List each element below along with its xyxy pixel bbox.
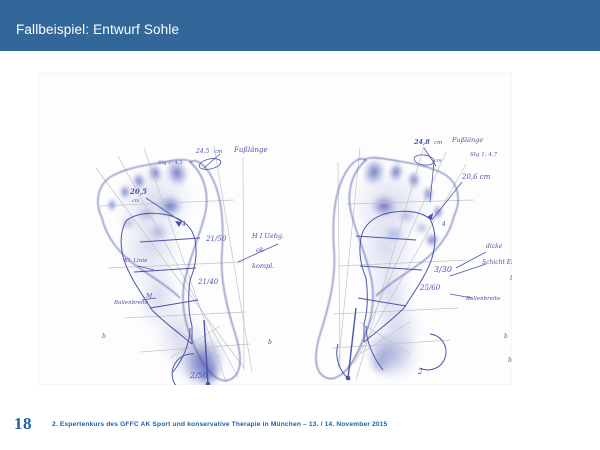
annotation-l-21-40: 21/40 (197, 278, 219, 286)
annotation-l-stg: Stg 1: 4,5 (158, 160, 183, 166)
annotation-r-stg: Stg 1: 4,7 (470, 152, 498, 158)
annotation-r-heel-2: 2 (417, 368, 423, 376)
annotation-l-b2: b (268, 339, 272, 346)
annotation-l-kl-linie: Kl. Linie (123, 258, 148, 264)
annotation-l-hz-3: kompl. (252, 262, 274, 270)
annotation-r-mass-oben: 24,8 (413, 138, 430, 146)
annotation-l-mass-oben: 24,5 (195, 148, 210, 155)
annotation-r-cm: cm (434, 140, 442, 146)
annotation-l-hz-2: ok (256, 246, 264, 254)
annotation-r-25-60: 25/60 (419, 284, 441, 292)
slide: Fallbeispiel: Entwurf Sohle (0, 0, 600, 450)
annotation-l-b1: b (102, 333, 106, 340)
footprint-scan-image: 24,5 cm Fußlänge Stg 1: 4,5 20,5 cm 4 21… (38, 72, 512, 385)
slide-page-number: 18 (14, 414, 32, 434)
annotation-r-3-30: 3/30 (434, 265, 452, 274)
page-title: Fallbeispiel: Entwurf Sohle (16, 22, 179, 37)
annotation-l-mass-205: 20,5 (129, 187, 147, 196)
annotation-l-heel-2-50: 2/50 (189, 371, 208, 380)
scan-paper (38, 72, 512, 385)
annotation-l-fusslaenge: Fußlänge (233, 146, 268, 154)
annotation-l-hz-1: H I Uebg. (251, 232, 284, 240)
annotation-l-m: M (145, 293, 153, 300)
annotation-r-schicht: Schicht Eing. (482, 259, 512, 266)
annotation-l-ballenbreite: Ballenbreite (113, 300, 149, 306)
annotation-r-4: 4 (441, 221, 446, 228)
annotation-l-4: 4 (181, 221, 186, 228)
slide-header-band: Fallbeispiel: Entwurf Sohle (0, 0, 600, 51)
annotation-l-21-50: 21/50 (205, 235, 227, 243)
annotation-r-206: 20,6 cm (461, 173, 491, 181)
annotation-r-b1: b (510, 275, 512, 282)
annotation-r-dicke: dicke (486, 243, 503, 250)
annotation-r-b3: b (508, 357, 512, 364)
annotation-r-cm-klein: cm (434, 158, 442, 164)
annotation-r-fusslaenge: Fußlänge (451, 136, 483, 144)
annotation-r-b2: b (504, 333, 508, 340)
annotation-r-ballenbreite: Ballenbreite (465, 296, 501, 302)
annotation-l-cm2: cm (132, 198, 140, 204)
slide-footer-text: 2. Expertenkurs des GFFC AK Sport und ko… (52, 421, 387, 428)
annotation-l-cm-unit: cm (214, 149, 222, 155)
footprint-drawing: 24,5 cm Fußlänge Stg 1: 4,5 20,5 cm 4 21… (38, 72, 512, 385)
